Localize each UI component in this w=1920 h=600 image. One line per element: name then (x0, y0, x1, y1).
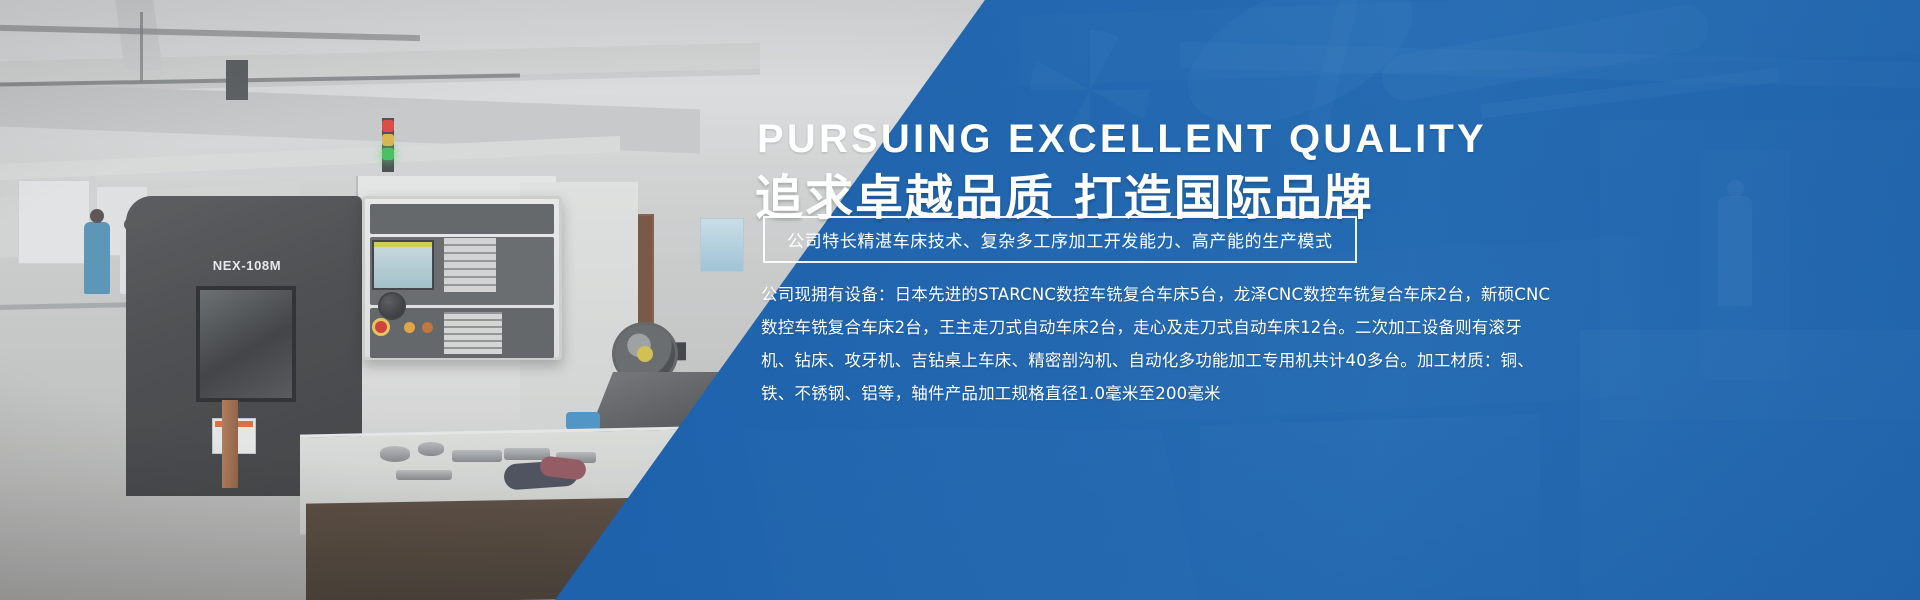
headline-english: PURSUING EXCELLENT QUALITY (757, 117, 1487, 162)
promo-banner: NEX-108M (0, 0, 1920, 600)
body-paragraph: 公司现拥有设备：日本先进的STARCNC数控车铣复合车床5台，龙泽CNC数控车铣… (761, 278, 1551, 410)
subtitle-box: 公司特长精湛车床技术、复杂多工序加工开发能力、高产能的生产模式 (763, 216, 1357, 263)
banner-content: PURSUING EXCELLENT QUALITY 追求卓越品质 打造国际品牌… (757, 0, 1857, 600)
